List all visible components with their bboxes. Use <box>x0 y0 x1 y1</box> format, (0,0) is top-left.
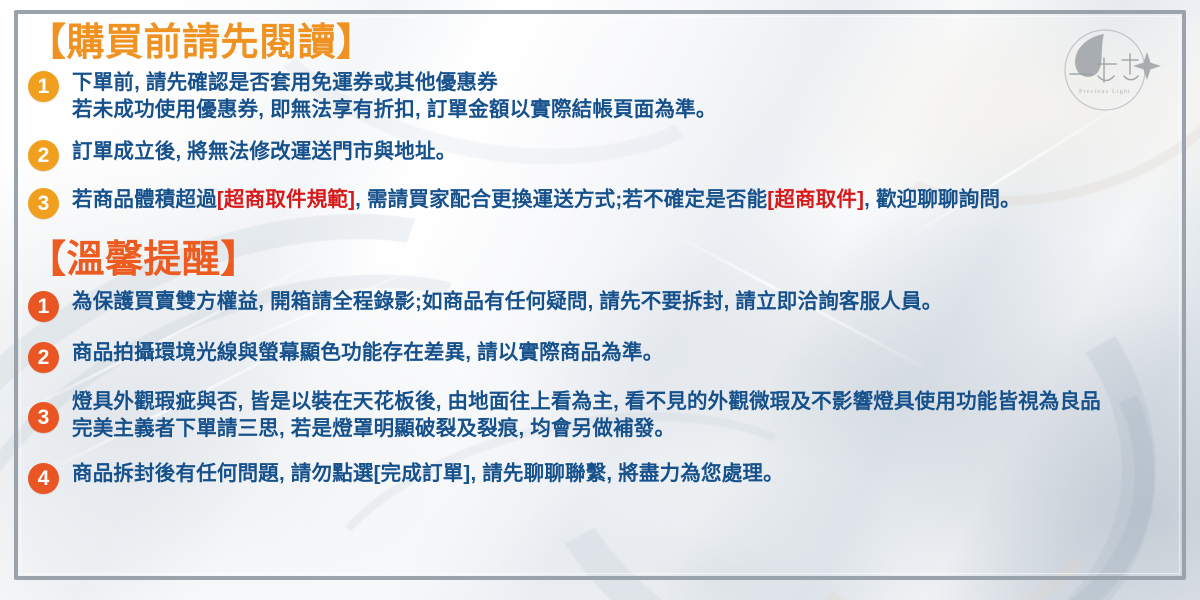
text-segment: 若商品體積超過 <box>72 188 217 211</box>
list-item-line: 燈具外觀瑕疵與否, 皆是以裝在天花板後, 由地面往上看為主, 看不見的外觀微瑕及… <box>72 389 1101 416</box>
list-item-line: 訂單成立後, 將無法修改運送門市與地址。 <box>72 139 456 166</box>
list-item-line: 完美主義者下單請三思, 若是燈罩明顯破裂及裂痕, 均會另做補發。 <box>72 416 1101 443</box>
list-item-body: 商品拍攝環境光線與螢幕顯色功能存在差異, 請以實際商品為準。 <box>72 340 663 367</box>
text-segment: , 歡迎聊聊詢問。 <box>864 188 1021 211</box>
list-item-line: 商品拍攝環境光線與螢幕顯色功能存在差異, 請以實際商品為準。 <box>72 340 663 367</box>
list-item: 3 若商品體積超過[超商取件規範], 需請買家配合更換運送方式;若不確定是否能[… <box>28 187 1172 219</box>
notice-list-purchase: 1 下單前, 請先確認是否套用免運券或其他優惠券 若未成功使用優惠券, 即無法享… <box>28 70 1172 219</box>
list-item-body: 若商品體積超過[超商取件規範], 需請買家配合更換運送方式;若不確定是否能[超商… <box>72 187 1021 214</box>
notice-list-reminder: 1 為保護買賣雙方權益, 開箱請全程錄影;如商品有任何疑問, 請先不要拆封, 請… <box>28 289 1172 493</box>
item-number-badge: 2 <box>28 140 59 171</box>
section-title-purchase: 【購買前請先閱讀】 <box>28 24 1172 62</box>
highlight-pickup-rules: [超商取件規範] <box>217 188 355 211</box>
list-item: 3 燈具外觀瑕疵與否, 皆是以裝在天花板後, 由地面往上看為主, 看不見的外觀微… <box>28 389 1172 442</box>
list-item-body: 為保護買賣雙方權益, 開箱請全程錄影;如商品有任何疑問, 請先不要拆封, 請立即… <box>72 289 942 316</box>
list-item: 2 商品拍攝環境光線與螢幕顯色功能存在差異, 請以實際商品為準。 <box>28 340 1172 373</box>
list-item: 2 訂單成立後, 將無法修改運送門市與地址。 <box>28 139 1172 171</box>
section-purchase-notice: 【購買前請先閱讀】 1 下單前, 請先確認是否套用免運券或其他優惠券 若未成功使… <box>28 24 1172 219</box>
section-title-reminder: 【溫馨提醒】 <box>28 241 1172 279</box>
list-item-body: 商品拆封後有任何問題, 請勿點選[完成訂單], 請先聊聊聯繫, 將盡力為您處理。 <box>72 461 784 488</box>
text-segment: , 需請買家配合更換運送方式;若不確定是否能 <box>355 188 767 211</box>
list-item-body: 燈具外觀瑕疵與否, 皆是以裝在天花板後, 由地面往上看為主, 看不見的外觀微瑕及… <box>72 389 1101 442</box>
item-number-badge: 2 <box>28 342 59 373</box>
list-item-line: 下單前, 請先確認是否套用免運券或其他優惠券 <box>72 70 717 97</box>
list-item-line: 若未成功使用優惠券, 即無法享有折扣, 訂單金額以實際結帳頁面為準。 <box>72 97 717 124</box>
list-item-body: 下單前, 請先確認是否套用免運券或其他優惠券 若未成功使用優惠券, 即無法享有折… <box>72 70 717 123</box>
list-item-line: 若商品體積超過[超商取件規範], 需請買家配合更換運送方式;若不確定是否能[超商… <box>72 187 1021 214</box>
list-item-line: 為保護買賣雙方權益, 開箱請全程錄影;如商品有任何疑問, 請先不要拆封, 請立即… <box>72 289 942 316</box>
item-number-badge: 3 <box>28 188 59 219</box>
promo-banner: Precious Light 【購買前請先閱讀】 1 下單前, 請先確認是否套用… <box>0 0 1200 600</box>
list-item-body: 訂單成立後, 將無法修改運送門市與地址。 <box>72 139 456 166</box>
item-number-badge: 3 <box>28 402 59 433</box>
list-item-line: 商品拆封後有任何問題, 請勿點選[完成訂單], 請先聊聊聯繫, 將盡力為您處理。 <box>72 461 784 488</box>
item-number-badge: 1 <box>28 71 59 102</box>
item-number-badge: 4 <box>28 463 59 494</box>
notice-content: 【購買前請先閱讀】 1 下單前, 請先確認是否套用免運券或其他優惠券 若未成功使… <box>28 18 1172 582</box>
list-item: 4 商品拆封後有任何問題, 請勿點選[完成訂單], 請先聊聊聯繫, 將盡力為您處… <box>28 461 1172 494</box>
item-number-badge: 1 <box>28 291 59 322</box>
list-item: 1 下單前, 請先確認是否套用免運券或其他優惠券 若未成功使用優惠券, 即無法享… <box>28 70 1172 123</box>
list-item: 1 為保護買賣雙方權益, 開箱請全程錄影;如商品有任何疑問, 請先不要拆封, 請… <box>28 289 1172 322</box>
highlight-pickup: [超商取件] <box>767 188 864 211</box>
section-warm-reminder: 【溫馨提醒】 1 為保護買賣雙方權益, 開箱請全程錄影;如商品有任何疑問, 請先… <box>28 241 1172 493</box>
